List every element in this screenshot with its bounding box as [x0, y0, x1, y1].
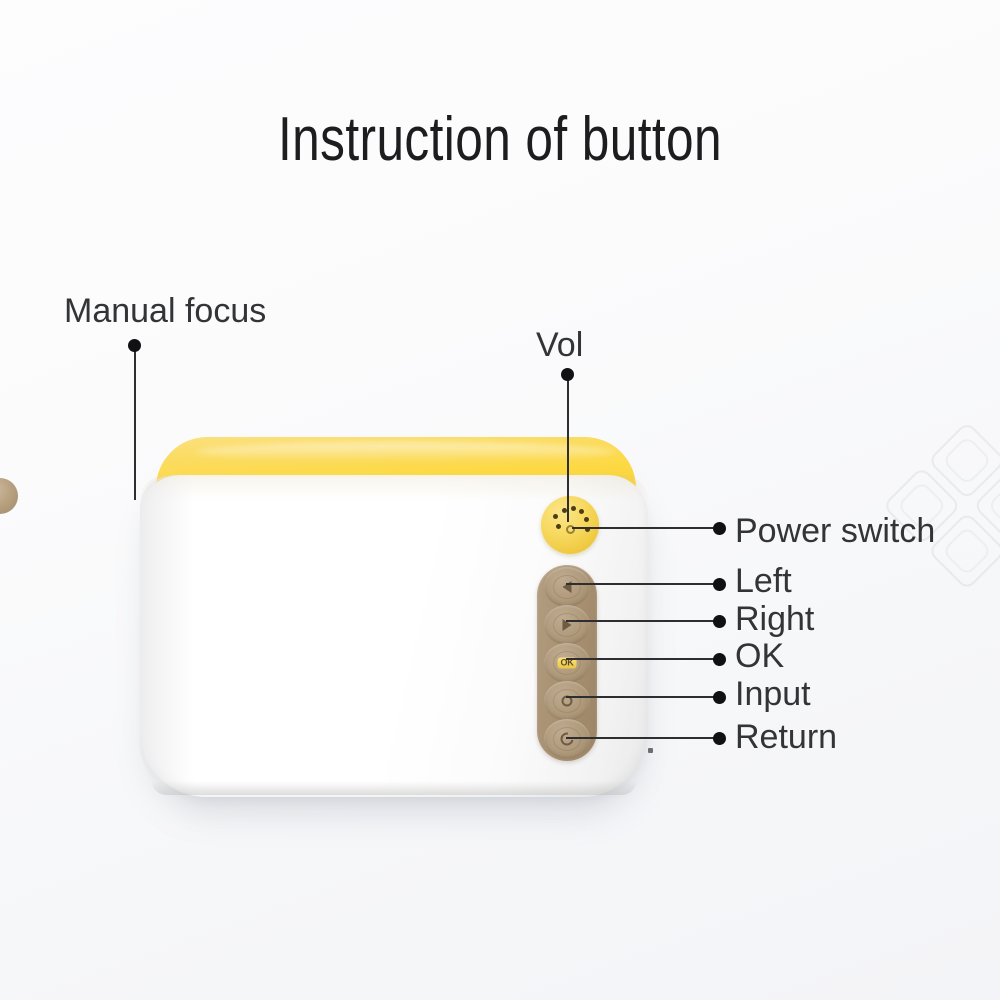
device-bottom-edge — [152, 781, 636, 795]
dial-tick-dot — [579, 509, 584, 514]
volume-dial[interactable] — [541, 496, 599, 554]
manual-focus-knob[interactable] — [0, 478, 18, 514]
dial-tick-dot — [556, 524, 561, 529]
watermark-square — [927, 511, 1000, 590]
callout-label-input: Input — [735, 675, 811, 714]
callout-label-right: Right — [735, 600, 814, 639]
input-button[interactable] — [544, 681, 590, 721]
leader-line-right — [566, 620, 718, 622]
return-button[interactable] — [544, 719, 590, 759]
leader-dot-power-switch — [713, 522, 726, 535]
right-button[interactable] — [544, 605, 590, 645]
dial-tick-dot — [553, 514, 558, 519]
callout-label-power-switch: Power switch — [735, 512, 935, 551]
instruction-diagram: Instruction of button — [0, 0, 1000, 1000]
device-top-gloss — [196, 442, 616, 462]
leader-line-left — [566, 583, 718, 585]
leader-line-return — [566, 737, 718, 739]
watermark-square-inner — [942, 526, 993, 577]
leader-line-manual-focus — [134, 348, 136, 500]
leader-dot-input — [713, 691, 726, 704]
dial-tick-dot — [584, 517, 589, 522]
left-button[interactable] — [544, 567, 590, 607]
watermark-square-inner — [987, 480, 1000, 531]
leader-line-input — [566, 696, 718, 698]
watermark-square — [973, 466, 1000, 545]
callout-label-left: Left — [735, 562, 792, 601]
device-left-shading — [140, 475, 194, 797]
callout-label-return: Return — [735, 718, 837, 757]
ok-button[interactable]: OK — [544, 643, 590, 683]
leader-dot-ok — [713, 653, 726, 666]
watermark-square-inner — [942, 435, 993, 486]
page-title: Instruction of button — [100, 104, 900, 175]
device-detail-speck — [648, 748, 653, 753]
leader-line-power-switch — [572, 527, 718, 529]
leader-dot-left — [713, 578, 726, 591]
leader-dot-vol — [561, 368, 574, 381]
button-strip: OK — [537, 565, 597, 761]
leader-dot-return — [713, 732, 726, 745]
leader-dot-manual-focus — [128, 339, 141, 352]
callout-label-manual-focus: Manual focus — [64, 292, 266, 331]
dial-tick-dot — [571, 506, 576, 511]
leader-line-ok — [566, 658, 718, 660]
watermark-square — [927, 421, 1000, 500]
leader-line-vol — [567, 378, 569, 522]
callout-label-vol: Vol — [536, 326, 583, 365]
callout-label-ok: OK — [735, 637, 784, 676]
leader-dot-right — [713, 615, 726, 628]
